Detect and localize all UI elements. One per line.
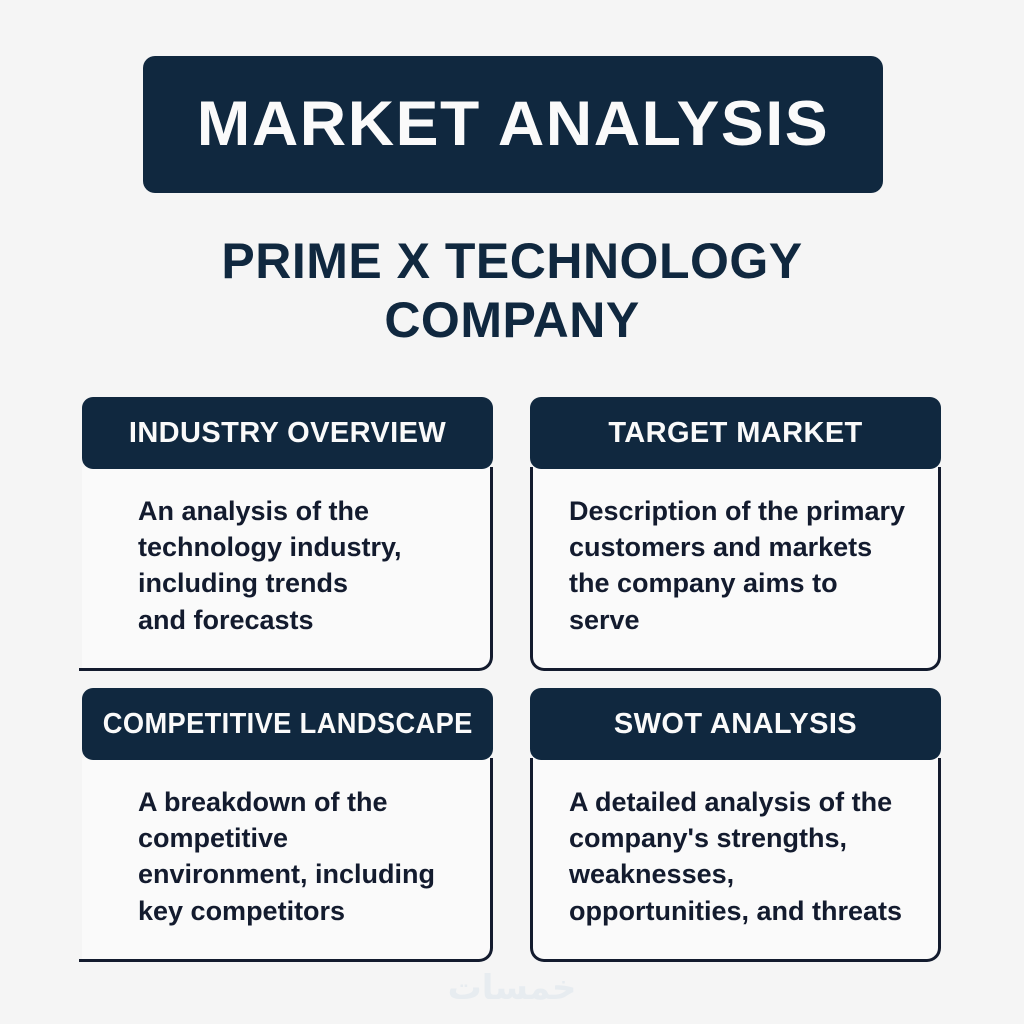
card-description: A breakdown of the competitive environme…: [138, 784, 474, 929]
card-body: Description of the primary customers and…: [530, 467, 941, 671]
card-header: SWOT ANALYSIS: [530, 688, 941, 760]
card-header: INDUSTRY OVERVIEW: [82, 397, 493, 469]
card-target-market: TARGET MARKET Description of the primary…: [530, 397, 941, 671]
card-body: A detailed analysis of the company's str…: [530, 758, 941, 962]
card-header: TARGET MARKET: [530, 397, 941, 469]
card-title: COMPETITIVE LANDSCAPE: [103, 710, 473, 739]
watermark: خمسات: [0, 968, 1024, 1008]
card-description: Description of the primary customers and…: [569, 493, 922, 638]
card-header: COMPETITIVE LANDSCAPE: [82, 688, 493, 760]
card-swot-analysis: SWOT ANALYSIS A detailed analysis of the…: [530, 688, 941, 962]
card-body: A breakdown of the competitive environme…: [82, 758, 493, 962]
card-description: An analysis of the technology industry, …: [138, 493, 474, 638]
page-subtitle: PRIME X TECHNOLOGY COMPANY: [152, 232, 872, 350]
card-title: INDUSTRY OVERVIEW: [129, 419, 446, 448]
card-description: A detailed analysis of the company's str…: [569, 784, 922, 929]
card-competitive-landscape: COMPETITIVE LANDSCAPE A breakdown of the…: [82, 688, 493, 962]
page-title: MARKET ANALYSIS: [197, 93, 829, 156]
card-industry-overview: INDUSTRY OVERVIEW An analysis of the tec…: [82, 397, 493, 671]
infographic-poster: MARKET ANALYSIS PRIME X TECHNOLOGY COMPA…: [0, 0, 1024, 1024]
card-title: TARGET MARKET: [608, 419, 862, 448]
title-banner: MARKET ANALYSIS: [143, 56, 883, 193]
card-body: An analysis of the technology industry, …: [82, 467, 493, 671]
card-title: SWOT ANALYSIS: [614, 710, 857, 739]
